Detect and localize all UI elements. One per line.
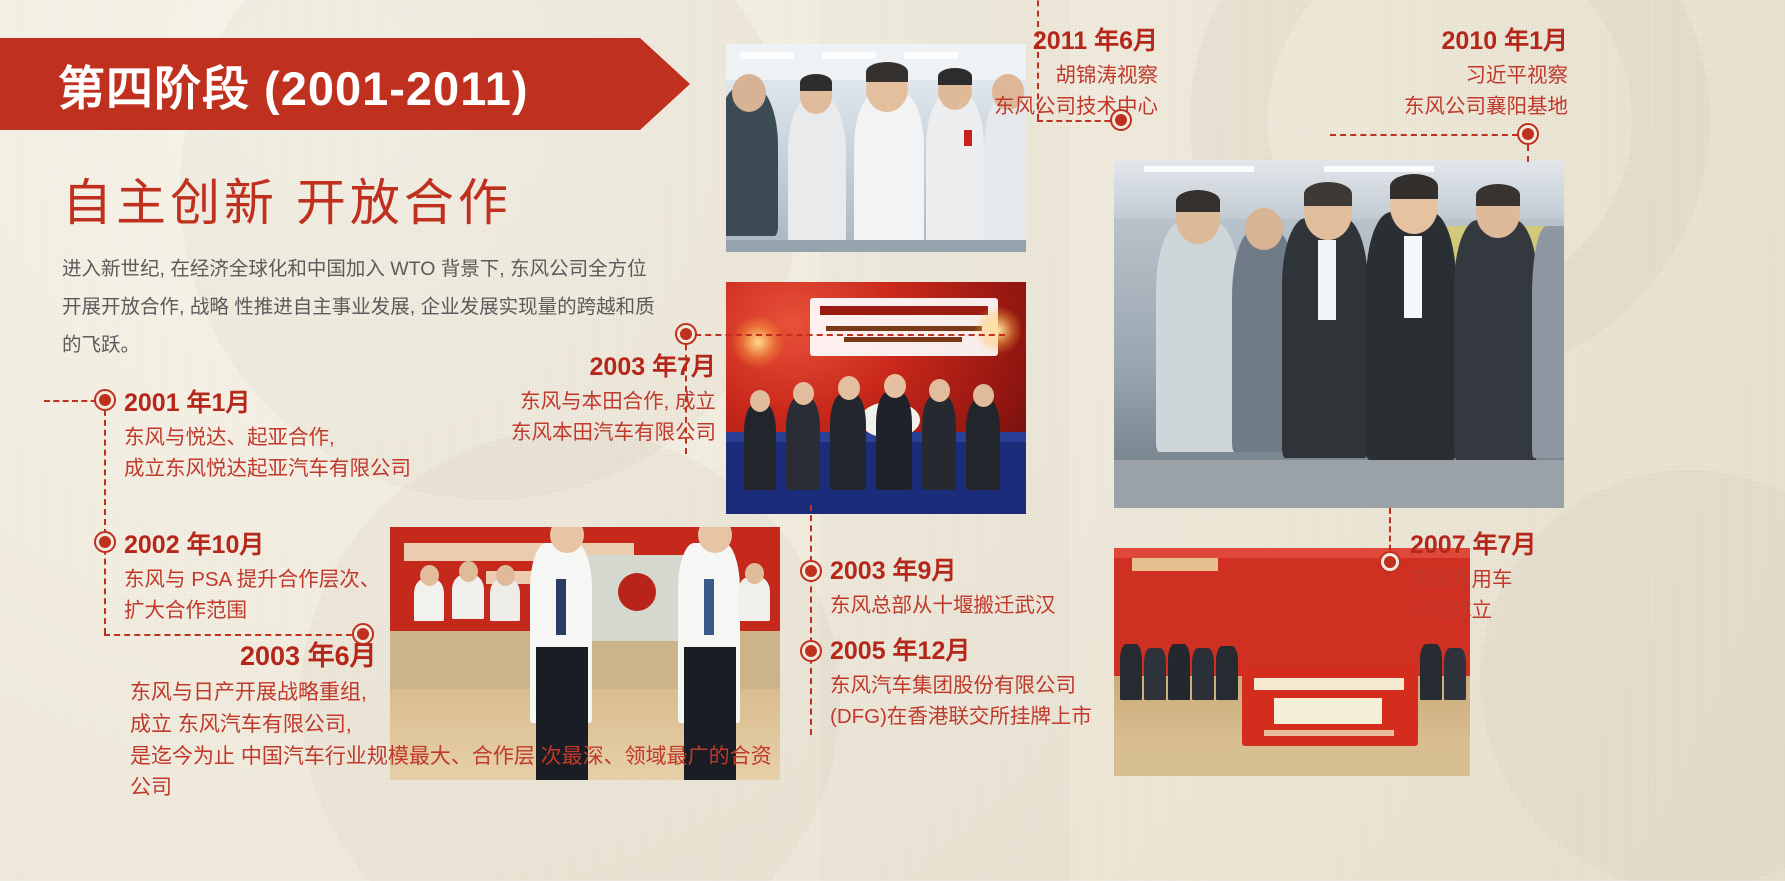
photo-honda-ceremony — [726, 282, 1026, 514]
event-2010-01: 2010 年1月 习近平视察 东风公司襄阳基地 — [1330, 26, 1568, 123]
photo-xi-jinping-visit — [1114, 160, 1564, 508]
node-2003-09[interactable] — [800, 560, 822, 582]
event-date: 2005 年12月 — [830, 636, 1170, 667]
event-2003-09: 2003 年9月 东风总部从十堰搬迁武汉 — [830, 556, 1160, 621]
event-date: 2001 年1月 — [124, 388, 464, 419]
event-2005-12: 2005 年12月 东风汽车集团股份有限公司 (DFG)在香港联交所挂牌上市 — [830, 636, 1170, 733]
event-date: 2010 年1月 — [1330, 26, 1568, 57]
infographic-canvas: 第四阶段 (2001-2011) 自主创新 开放合作 进入新世纪, 在经济全球化… — [0, 0, 1785, 881]
node-2011-06[interactable] — [1110, 109, 1132, 131]
node-2001-01[interactable] — [94, 389, 116, 411]
event-description: 东风与本田合作, 成立 东风本田汽车有限公司 — [440, 386, 716, 448]
event-2007-07: 2007 年7月 东风乘用车 公司成立 — [1410, 530, 1740, 627]
event-description: 东风汽车集团股份有限公司 (DFG)在香港联交所挂牌上市 — [830, 670, 1170, 732]
node-2005-12[interactable] — [800, 640, 822, 662]
event-date: 2007 年7月 — [1410, 530, 1740, 561]
node-2002-10[interactable] — [94, 531, 116, 553]
event-description: 东风乘用车 公司成立 — [1410, 564, 1740, 626]
event-date: 2002 年10月 — [124, 530, 454, 561]
connector-left-bottom — [104, 634, 362, 636]
event-date: 2003 年7月 — [440, 352, 716, 383]
connector-mid-lower-spine — [810, 505, 812, 735]
event-date: 2003 年9月 — [830, 556, 1160, 587]
event-description: 东风与 PSA 提升合作层次、 扩大合作范围 — [124, 564, 454, 626]
connector-left-spine — [104, 400, 106, 634]
event-date: 2011 年6月 — [920, 26, 1158, 57]
event-2003-06: 2003 年6月 东风与日产开展战略重组, 成立 东风汽车有限公司, 是迄今为止… — [130, 640, 790, 804]
event-2001-01: 2001 年1月 东风与悦达、起亚合作, 成立东风悦达起亚汽车有限公司 — [124, 388, 464, 485]
connector-top-2010 — [1330, 134, 1518, 136]
event-2002-10: 2002 年10月 东风与 PSA 提升合作层次、 扩大合作范围 — [124, 530, 454, 627]
node-2007-07[interactable] — [1379, 551, 1401, 573]
event-description: 东风总部从十堰搬迁武汉 — [830, 590, 1160, 621]
node-2003-07[interactable] — [675, 323, 697, 345]
node-2010-01[interactable] — [1517, 123, 1539, 145]
event-2003-07: 2003 年7月 东风与本田合作, 成立 东风本田汽车有限公司 — [440, 352, 716, 449]
event-description: 东风与日产开展战略重组, 成立 东风汽车有限公司, 是迄今为止 中国汽车行业规模… — [130, 677, 790, 805]
node-2003-06[interactable] — [352, 623, 374, 645]
event-description: 东风与悦达、起亚合作, 成立东风悦达起亚汽车有限公司 — [124, 422, 464, 484]
event-date: 2003 年6月 — [240, 640, 790, 674]
connector-mid-top — [685, 334, 1005, 336]
intro-paragraph: 进入新世纪, 在经济全球化和中国加入 WTO 背景下, 东风公司全方位开展开放合… — [62, 250, 662, 364]
phase-banner: 第四阶段 (2001-2011) — [0, 38, 690, 130]
page-subtitle: 自主创新 开放合作 — [62, 163, 512, 235]
banner-title: 第四阶段 (2001-2011) — [58, 50, 529, 119]
event-description: 习近平视察 东风公司襄阳基地 — [1330, 60, 1568, 122]
